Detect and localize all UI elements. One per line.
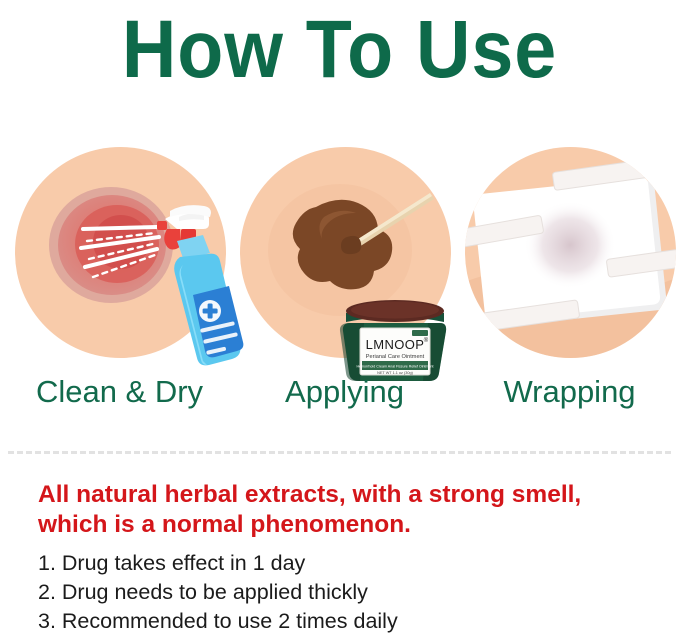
step-applying: LMNOOP ® Perianal Care Ointment Hemorrho…	[232, 145, 457, 430]
step-wrapping: Wrapping	[457, 145, 679, 430]
list-item: 2. Drug needs to be applied thickly	[38, 578, 658, 607]
jar-label-badge	[412, 330, 428, 336]
jar-lid-inner	[351, 302, 439, 319]
jar-label-greenbar-text: Hemorrhoid Cream Anal Fissure Relief Oin…	[356, 364, 433, 368]
step-caption-wrapping: Wrapping	[457, 375, 679, 409]
jar-brand-text: LMNOOP	[366, 337, 425, 352]
step-caption-applying: Applying	[232, 375, 457, 409]
notice-text: All natural herbal extracts, with a stro…	[38, 480, 656, 540]
steps-row: Clean & Dry	[0, 145, 679, 430]
stick-tip-ointment	[341, 236, 361, 254]
step-clean-dry: Clean & Dry	[7, 145, 232, 430]
spray-bottle	[157, 205, 243, 365]
illustration-clean-dry	[7, 145, 232, 370]
illustration-wrapping	[457, 145, 679, 370]
jar-subtitle-text: Perianal Care Ointment	[366, 354, 425, 360]
step-caption-clean-dry: Clean & Dry	[7, 375, 232, 409]
page-title: How To Use	[27, 2, 652, 98]
jar-brand-mark: ®	[424, 337, 429, 344]
bottle-cross-icon	[199, 300, 221, 322]
instruction-list: 1. Drug takes effect in 1 day 2. Drug ne…	[38, 549, 658, 636]
ointment-jar: LMNOOP ® Perianal Care Ointment Hemorrho…	[340, 300, 446, 381]
list-item: 1. Drug takes effect in 1 day	[38, 549, 658, 578]
list-item: 3. Recommended to use 2 times daily	[38, 607, 658, 636]
dashed-divider	[8, 451, 671, 454]
illustration-applying: LMNOOP ® Perianal Care Ointment Hemorrho…	[232, 145, 457, 370]
